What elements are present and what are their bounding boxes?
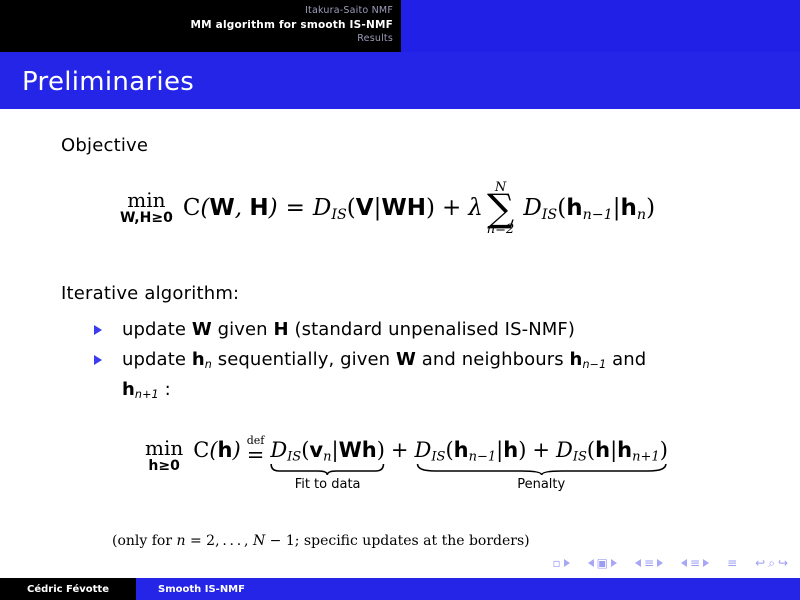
nav-next-subsection-icon[interactable]	[657, 559, 663, 567]
slide: Itakura-Saito NMF MM algorithm for smoot…	[0, 0, 800, 600]
eq2-cost-function: C(h)	[193, 438, 240, 462]
eq1-divergence-term-2: DIS(hn−1|hn)	[523, 195, 655, 221]
eq1-args-1: (V|WH)	[347, 195, 435, 221]
nav-prev-subsection-icon[interactable]	[635, 559, 641, 567]
b1-p0: update	[122, 319, 192, 340]
bullet-3-text: hn+1 :	[122, 379, 171, 400]
eq1-d-symbol-2: D	[523, 195, 541, 221]
triangle-bullet-icon	[94, 325, 102, 335]
b2-p4: W	[396, 349, 416, 370]
header-bar: Itakura-Saito NMF MM algorithm for smoot…	[0, 0, 800, 52]
note-minus: − 1	[265, 533, 295, 549]
note-var-n: n	[177, 533, 186, 549]
eq2-fit-args: (vn|Wh)	[301, 438, 385, 462]
b2-p0: update	[122, 349, 192, 370]
min-operator-2-constraint: h≥0	[148, 459, 179, 474]
nav-prev-frame-icon[interactable]	[588, 559, 594, 567]
eq1-divergence-term-1: DIS(V|WH)	[313, 195, 435, 221]
b2-p7: n−1	[582, 358, 606, 371]
nav-slide-icon[interactable]: ▫	[552, 557, 560, 569]
eq1-cost-function: C(W, H)	[183, 195, 278, 221]
eq2-plus-middle: +	[391, 438, 409, 462]
min-operator-2-label: min	[145, 438, 183, 459]
note-range: = 2, . . . ,	[186, 533, 253, 549]
b1-p4: (standard unpenalised IS-NMF)	[289, 319, 575, 340]
min-operator-1-constraint: W,H≥0	[120, 211, 173, 226]
eq1-h-sub-2: n	[637, 207, 646, 223]
underbrace-penalty-icon	[415, 463, 668, 475]
bullet-2-text: update hn sequentially, given W and neig…	[122, 349, 646, 370]
note-prefix: (only for	[112, 533, 177, 549]
min-operator-1: min W,H≥0	[120, 190, 173, 226]
note-suffix: ; specific updates at the borders)	[295, 533, 530, 549]
eq2-fit-d: D	[270, 438, 287, 462]
b2-p3: sequentially, given	[212, 349, 396, 370]
slide-body: Objective min W,H≥0 C(W, H) = DIS(V|WH) …	[0, 109, 800, 569]
def-equals-sign: =	[247, 446, 265, 466]
b3-p1: n+1	[135, 388, 159, 401]
page-title: Preliminaries	[22, 67, 194, 97]
penalty-expression: DIS(hn−1|h)+DIS(h|hn+1)	[415, 438, 668, 462]
min-operator-2: min h≥0	[145, 438, 183, 474]
b1-p1: W	[192, 319, 212, 340]
definition-equals-operator: def =	[247, 436, 265, 466]
b3-p0: h	[122, 379, 135, 400]
b1-p3: H	[274, 319, 289, 340]
b2-p5: and neighbours	[416, 349, 570, 370]
bullet-list: update W given H (standard unpenalised I…	[92, 315, 732, 405]
eq1-d-symbol: D	[313, 195, 331, 221]
nav-frame-icon[interactable]: ▣	[597, 557, 608, 569]
nav-section-mm-algorithm[interactable]: MM algorithm for smooth IS-NMF	[0, 18, 393, 32]
nav-subsection-icon[interactable]: ≡	[644, 557, 654, 569]
eq2-pen-args-1: (hn−1|h)	[445, 438, 526, 462]
eq1-d-subscript-2: IS	[542, 207, 557, 223]
fit-to-data-expression: DIS(vn|Wh)	[270, 438, 385, 462]
b2-p1: h	[192, 349, 205, 370]
eq2-pen-d1: D	[415, 438, 432, 462]
iterative-algorithm-label: Iterative algorithm:	[61, 283, 239, 304]
update-equation: min h≥0 C(h) def = DIS(vn|Wh) F	[145, 434, 668, 492]
eq1-lambda: λ	[468, 195, 483, 221]
footer-author: Cédric Févotte	[0, 578, 136, 600]
beamer-navigation-symbols[interactable]: ▫ ▣ ≡ ≡ ≡ ↩ ⌕ ↪	[552, 557, 788, 569]
eq1-d-subscript: IS	[331, 207, 346, 223]
eq2-pen-plus: +	[532, 438, 550, 462]
nav-forward-icon[interactable]: ↪	[778, 557, 788, 569]
eq1-equals: =	[286, 195, 305, 221]
fit-to-data-group: DIS(vn|Wh) Fit to data	[270, 434, 385, 492]
note-var-N: N	[253, 533, 265, 549]
nav-document-icon[interactable]: ≡	[727, 557, 737, 569]
section-navigation-box: Itakura-Saito NMF MM algorithm for smoot…	[0, 0, 401, 52]
nav-next-frame-icon[interactable]	[611, 559, 617, 567]
penalty-label: Penalty	[415, 477, 668, 492]
footer-bar: Cédric Févotte Smooth IS-NMF	[0, 578, 800, 600]
eq1-sum-lower-limit: n=2	[487, 223, 515, 236]
nav-section-icon[interactable]: ≡	[690, 557, 700, 569]
footer-title: Smooth IS-NMF	[136, 578, 800, 600]
frame-title-band: Preliminaries	[0, 52, 800, 109]
objective-block-label: Objective	[61, 135, 148, 156]
update-equation-row: min h≥0 C(h) def = DIS(vn|Wh) F	[145, 434, 668, 492]
sum-icon: ∑	[487, 192, 514, 225]
list-item: update hn sequentially, given W and neig…	[92, 345, 732, 375]
eq2-pen-args-2: (h|hn+1)	[587, 438, 668, 462]
min-operator-1-label: min	[127, 190, 165, 211]
nav-section-results[interactable]: Results	[0, 32, 393, 46]
b2-p8: and	[606, 349, 646, 370]
triangle-bullet-icon	[94, 355, 102, 365]
eq1-args-2: (hn−1|hn)	[557, 195, 655, 221]
b2-p2: n	[205, 358, 212, 371]
list-item: update W given H (standard unpenalised I…	[92, 315, 732, 345]
nav-section-itakura-saito-nmf[interactable]: Itakura-Saito NMF	[0, 4, 393, 18]
list-item-continuation: hn+1 :	[92, 375, 732, 405]
b1-p2: given	[212, 319, 274, 340]
b3-p2: :	[159, 379, 171, 400]
objective-equation: min W,H≥0 C(W, H) = DIS(V|WH) + λ N ∑ n=…	[120, 181, 655, 236]
eq2-pen-d2: D	[556, 438, 573, 462]
equation-note: (only for n = 2, . . . , N − 1; specific…	[112, 533, 530, 549]
b2-p6: h	[570, 349, 583, 370]
nav-next-slide-icon[interactable]	[564, 559, 570, 567]
nav-prev-section-icon[interactable]	[681, 559, 687, 567]
eq1-plus: +	[442, 195, 461, 221]
nav-back-icon[interactable]: ↩	[755, 557, 765, 569]
nav-search-icon[interactable]: ⌕	[768, 557, 775, 569]
nav-next-section-icon[interactable]	[703, 559, 709, 567]
eq1-h-sub-1: n−1	[583, 207, 613, 223]
eq1-summation: N ∑ n=2	[487, 181, 515, 236]
underbrace-fit-icon	[270, 463, 385, 475]
penalty-group: DIS(hn−1|h)+DIS(h|hn+1) Penalty	[415, 434, 668, 492]
fit-to-data-label: Fit to data	[270, 477, 385, 492]
bullet-1-text: update W given H (standard unpenalised I…	[122, 319, 575, 340]
